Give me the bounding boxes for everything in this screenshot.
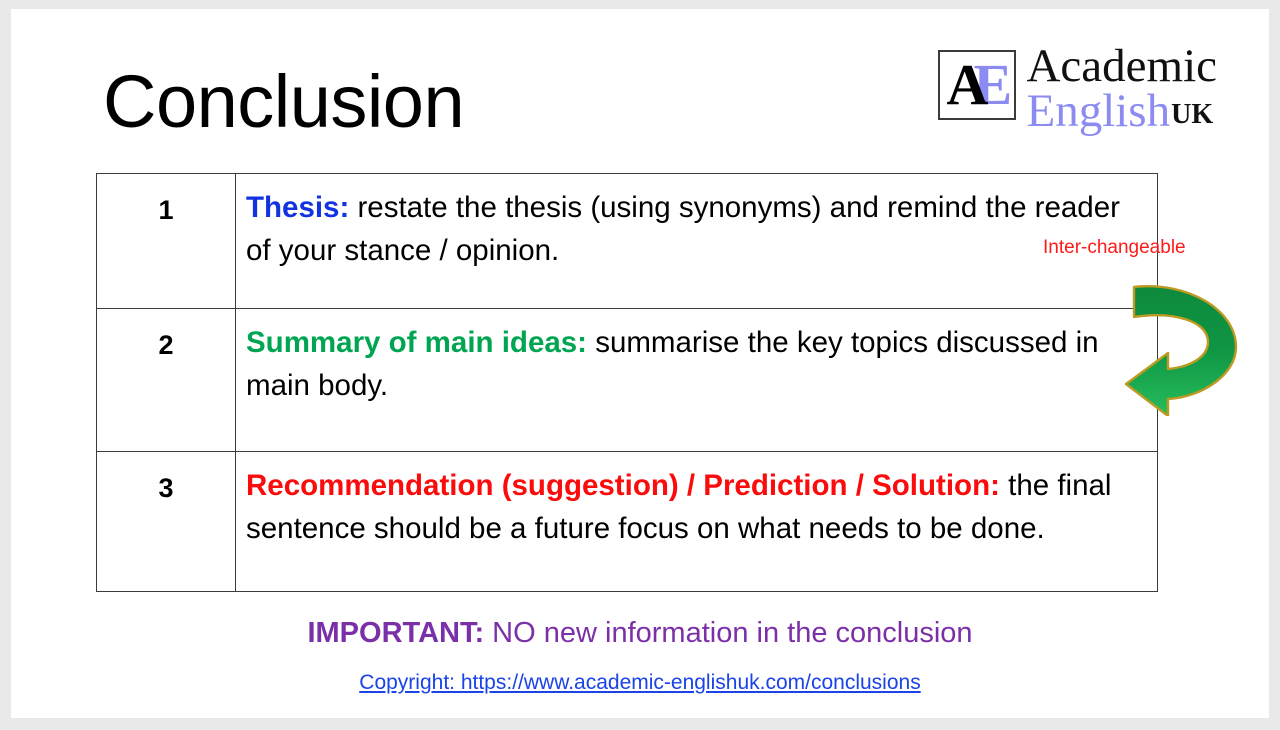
logo-text-english-uk: EnglishUK xyxy=(1026,88,1217,141)
table-row: 1 Thesis: restate the thesis (using syno… xyxy=(97,174,1158,309)
important-text: NO new information in the conclusion xyxy=(484,617,972,649)
row-number-cell: 3 xyxy=(97,452,236,592)
table-row: 2 Summary of main ideas: summarise the k… xyxy=(97,309,1158,452)
curved-arrow-icon xyxy=(1124,271,1249,416)
slide-frame: Conclusion A E Academic EnglishUK 1 Thes… xyxy=(0,0,1280,730)
row-label: Summary of main ideas: xyxy=(246,326,587,359)
logo-text-academic: Academic xyxy=(1026,44,1217,88)
monogram-letter-a: A xyxy=(946,54,988,116)
page-title: Conclusion xyxy=(103,65,464,139)
slide-canvas: Conclusion A E Academic EnglishUK 1 Thes… xyxy=(11,9,1269,718)
row-number-cell: 2 xyxy=(97,309,236,452)
logo-wordmark: Academic EnglishUK xyxy=(1026,44,1217,141)
row-description-cell: Recommendation (suggestion) / Prediction… xyxy=(236,452,1158,592)
row-body-text: restate the thesis (using synonyms) and … xyxy=(246,191,1120,267)
ae-monogram-icon: A E xyxy=(938,50,1016,120)
academic-english-uk-logo: A E Academic EnglishUK xyxy=(938,50,1217,147)
row-label: Recommendation (suggestion) / Prediction… xyxy=(246,469,1000,502)
copyright-link[interactable]: Copyright: https://www.academic-englishu… xyxy=(359,671,920,694)
table-row: 3 Recommendation (suggestion) / Predicti… xyxy=(97,452,1158,592)
row-description-cell: Thesis: restate the thesis (using synony… xyxy=(236,174,1158,309)
copyright-line: Copyright: https://www.academic-englishu… xyxy=(11,671,1269,695)
row-label: Thesis: xyxy=(246,191,349,224)
important-note: IMPORTANT: NO new information in the con… xyxy=(11,617,1269,650)
important-label: IMPORTANT: xyxy=(307,617,484,649)
row-description-cell: Summary of main ideas: summarise the key… xyxy=(236,309,1158,452)
row-number-cell: 1 xyxy=(97,174,236,309)
logo-text-english: English xyxy=(1026,85,1170,137)
interchangeable-annotation: Inter-changeable xyxy=(1043,237,1186,259)
conclusion-structure-table: 1 Thesis: restate the thesis (using syno… xyxy=(96,173,1158,592)
logo-text-uk: UK xyxy=(1171,99,1213,130)
